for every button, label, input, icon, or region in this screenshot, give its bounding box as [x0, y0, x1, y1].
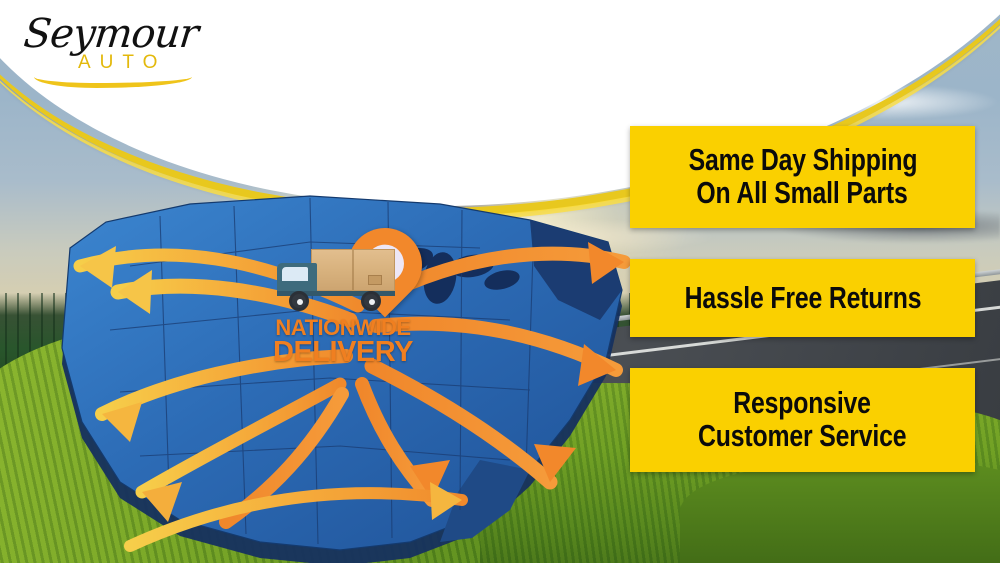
- callout-line: Same Day Shipping: [688, 144, 917, 177]
- logo-swoosh-icon: [34, 75, 192, 88]
- delivery-line: DELIVERY: [268, 339, 418, 366]
- callout-box-group: Same Day Shipping On All Small Parts Has…: [630, 0, 978, 563]
- callout-line: On All Small Parts: [697, 177, 908, 210]
- promo-banner: Seymour AUTO: [0, 0, 1000, 563]
- callout-hassle-free-returns[interactable]: Hassle Free Returns: [630, 259, 975, 337]
- nationwide-delivery-label: NATIONWIDE DELIVERY: [268, 318, 418, 366]
- truck-cargo-label: [368, 275, 382, 285]
- callout-line: Responsive: [734, 387, 872, 420]
- delivery-truck-icon: [277, 249, 395, 311]
- truck-cargo-box: [311, 249, 395, 291]
- seymour-auto-logo[interactable]: Seymour AUTO: [24, 14, 214, 102]
- callout-responsive-customer-service[interactable]: Responsive Customer Service: [630, 368, 975, 472]
- truck-wheel: [361, 291, 381, 311]
- callout-same-day-shipping[interactable]: Same Day Shipping On All Small Parts: [630, 126, 975, 228]
- truck-wheel: [289, 291, 309, 311]
- logo-wordmark: Seymour: [22, 14, 216, 54]
- callout-line: Customer Service: [698, 420, 906, 453]
- callout-line: Hassle Free Returns: [684, 282, 921, 315]
- truck-window: [282, 267, 308, 281]
